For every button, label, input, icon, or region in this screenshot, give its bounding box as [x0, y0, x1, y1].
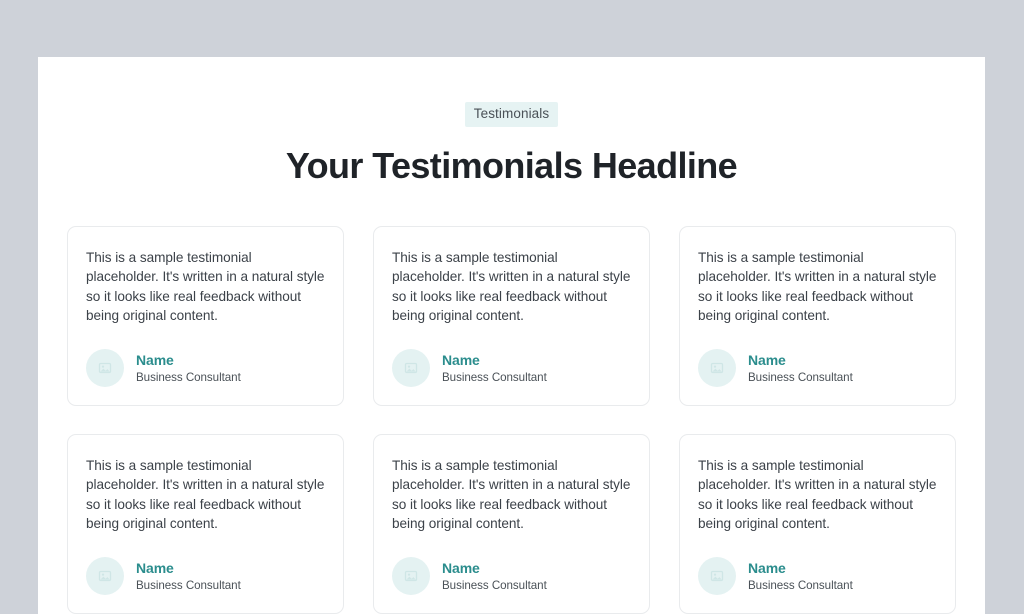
- testimonials-section: Testimonials Your Testimonials Headline …: [38, 57, 985, 614]
- eyebrow-wrap: Testimonials: [38, 102, 985, 127]
- author-role: Business Consultant: [748, 370, 853, 385]
- author-meta: Name Business Consultant: [136, 351, 241, 385]
- testimonial-card: This is a sample testimonial placeholder…: [373, 226, 650, 406]
- testimonial-card: This is a sample testimonial placeholder…: [67, 434, 344, 614]
- author-role: Business Consultant: [442, 578, 547, 593]
- image-placeholder-icon: [97, 360, 113, 376]
- viewport: Testimonials Your Testimonials Headline …: [0, 0, 1024, 614]
- testimonial-card: This is a sample testimonial placeholder…: [67, 226, 344, 406]
- testimonial-card: This is a sample testimonial placeholder…: [679, 434, 956, 614]
- testimonial-card: This is a sample testimonial placeholder…: [373, 434, 650, 614]
- author-name: Name: [748, 559, 853, 577]
- testimonial-author: Name Business Consultant: [86, 557, 325, 595]
- testimonial-author: Name Business Consultant: [392, 557, 631, 595]
- avatar: [392, 557, 430, 595]
- testimonial-author: Name Business Consultant: [86, 349, 325, 387]
- section-header: Testimonials Your Testimonials Headline: [38, 102, 985, 187]
- image-placeholder-icon: [403, 360, 419, 376]
- avatar: [86, 349, 124, 387]
- page-title: Your Testimonials Headline: [38, 144, 985, 187]
- author-meta: Name Business Consultant: [442, 559, 547, 593]
- testimonial-author: Name Business Consultant: [392, 349, 631, 387]
- testimonial-quote: This is a sample testimonial placeholder…: [86, 456, 325, 534]
- author-name: Name: [442, 351, 547, 369]
- author-role: Business Consultant: [442, 370, 547, 385]
- testimonial-quote: This is a sample testimonial placeholder…: [392, 248, 631, 326]
- author-name: Name: [136, 559, 241, 577]
- testimonial-quote: This is a sample testimonial placeholder…: [698, 456, 937, 534]
- section-eyebrow-badge: Testimonials: [465, 102, 558, 127]
- author-meta: Name Business Consultant: [136, 559, 241, 593]
- image-placeholder-icon: [403, 568, 419, 584]
- avatar: [86, 557, 124, 595]
- avatar: [392, 349, 430, 387]
- testimonial-quote: This is a sample testimonial placeholder…: [698, 248, 937, 326]
- avatar: [698, 349, 736, 387]
- author-meta: Name Business Consultant: [748, 351, 853, 385]
- avatar: [698, 557, 736, 595]
- author-name: Name: [442, 559, 547, 577]
- testimonial-quote: This is a sample testimonial placeholder…: [86, 248, 325, 326]
- page-panel: Testimonials Your Testimonials Headline …: [38, 57, 985, 614]
- author-name: Name: [136, 351, 241, 369]
- testimonial-author: Name Business Consultant: [698, 349, 937, 387]
- testimonial-card: This is a sample testimonial placeholder…: [679, 226, 956, 406]
- author-role: Business Consultant: [136, 370, 241, 385]
- image-placeholder-icon: [709, 568, 725, 584]
- testimonial-author: Name Business Consultant: [698, 557, 937, 595]
- image-placeholder-icon: [97, 568, 113, 584]
- author-name: Name: [748, 351, 853, 369]
- author-meta: Name Business Consultant: [748, 559, 853, 593]
- author-role: Business Consultant: [136, 578, 241, 593]
- testimonials-grid: This is a sample testimonial placeholder…: [38, 226, 985, 614]
- testimonial-quote: This is a sample testimonial placeholder…: [392, 456, 631, 534]
- author-role: Business Consultant: [748, 578, 853, 593]
- author-meta: Name Business Consultant: [442, 351, 547, 385]
- image-placeholder-icon: [709, 360, 725, 376]
